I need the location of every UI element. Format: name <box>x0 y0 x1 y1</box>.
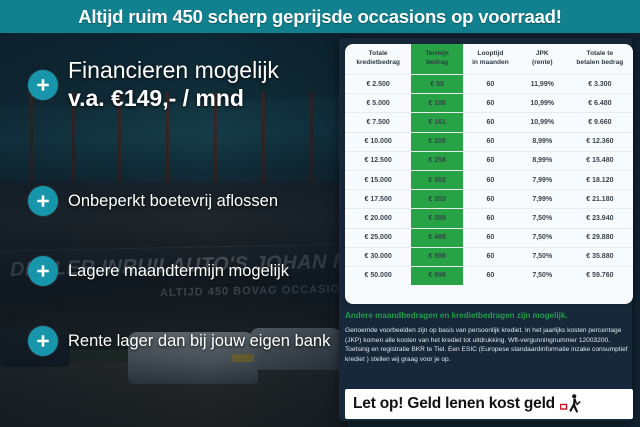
disclaimer-title: Andere maandbedragen en kredietbedragen … <box>345 310 633 321</box>
table-cell: € 15.000 <box>345 170 411 189</box>
top-banner: Altijd ruim 450 scherp geprijsde occasio… <box>0 0 640 33</box>
table-cell: € 399 <box>411 209 463 228</box>
table-cell: 60 <box>463 209 518 228</box>
table-cell: € 598 <box>411 247 463 266</box>
disclaimer-body: Genoemde voorbeelden zijn op basis van p… <box>345 326 633 364</box>
table-row: € 5.000€ 1086010,99%€ 6.480 <box>345 94 633 113</box>
table-cell: 10,99% <box>518 113 567 132</box>
table-cell: € 50.000 <box>345 266 411 285</box>
rates-table-card: Totalekredietbedrag Termijnbedrag Loopti… <box>345 44 633 304</box>
table-cell: € 18.120 <box>567 170 633 189</box>
rates-table-body: € 2.500€ 556011,99%€ 3.300€ 5.000€ 10860… <box>345 75 633 286</box>
table-cell: 60 <box>463 151 518 170</box>
table-cell: € 17.500 <box>345 190 411 209</box>
table-cell: 60 <box>463 228 518 247</box>
plus-icon <box>28 186 58 216</box>
table-cell: 7,50% <box>518 209 567 228</box>
table-cell: € 161 <box>411 113 463 132</box>
feature-item-label: Lagere maandtermijn mogelijk <box>68 262 289 281</box>
feature-item-label: Rente lager dan bij jouw eigen bank <box>68 332 330 351</box>
table-cell: 60 <box>463 132 518 151</box>
feature-item-3: Rente lager dan bij jouw eigen bank <box>28 326 330 356</box>
table-cell: 7,50% <box>518 228 567 247</box>
table-row: € 7.500€ 1616010,99%€ 9.660 <box>345 113 633 132</box>
table-cell: € 2.500 <box>345 75 411 94</box>
credit-warning-text: Let op! Geld lenen kost geld <box>353 395 555 413</box>
top-banner-text: Altijd ruim 450 scherp geprijsde occasio… <box>78 6 562 28</box>
feature-item-2: Lagere maandtermijn mogelijk <box>28 256 289 286</box>
plus-icon <box>28 70 58 100</box>
table-cell: € 29.880 <box>567 228 633 247</box>
feature-list: Financieren mogelijk v.a. €149,- / mnd O… <box>0 33 348 427</box>
table-cell: 11,99% <box>518 75 567 94</box>
feature-item-1: Onbeperkt boetevrij aflossen <box>28 186 278 216</box>
column-header-looptijd: Looptijdin maanden <box>463 44 518 75</box>
table-cell: € 15.480 <box>567 151 633 170</box>
table-cell: 60 <box>463 75 518 94</box>
table-row: € 2.500€ 556011,99%€ 3.300 <box>345 75 633 94</box>
table-cell: € 3.300 <box>567 75 633 94</box>
plus-icon <box>28 326 58 356</box>
table-cell: € 12.500 <box>345 151 411 170</box>
table-row: € 15.000€ 302607,99%€ 18.120 <box>345 170 633 189</box>
plus-icon <box>28 256 58 286</box>
table-cell: € 30.000 <box>345 247 411 266</box>
table-cell: € 5.000 <box>345 94 411 113</box>
advertisement-banner: DEALER INRUILAUTO'S JOHAN MEURE ALTIJD 4… <box>0 0 640 427</box>
column-header-totale-te-betalen: Totale tebetalen bedrag <box>567 44 633 75</box>
table-row: € 30.000€ 598607,50%€ 35.880 <box>345 247 633 266</box>
table-cell: 7,99% <box>518 190 567 209</box>
table-cell: 7,50% <box>518 247 567 266</box>
disclaimer-block: Andere maandbedragen en kredietbedragen … <box>345 310 633 364</box>
feature-item-label: Onbeperkt boetevrij aflossen <box>68 192 278 211</box>
column-header-totale-kredietbedrag: Totalekredietbedrag <box>345 44 411 75</box>
table-row: € 25.000€ 498607,50%€ 29.880 <box>345 228 633 247</box>
table-cell: € 12.360 <box>567 132 633 151</box>
table-cell: € 258 <box>411 151 463 170</box>
table-cell: 60 <box>463 266 518 285</box>
table-cell: 60 <box>463 170 518 189</box>
table-row: € 20.000€ 399607,50%€ 23.940 <box>345 209 633 228</box>
table-cell: € 996 <box>411 266 463 285</box>
table-cell: 8,99% <box>518 151 567 170</box>
feature-headline: Financieren mogelijk v.a. €149,- / mnd <box>28 57 279 112</box>
table-cell: 10,99% <box>518 94 567 113</box>
table-cell: 60 <box>463 94 518 113</box>
table-cell: € 35.880 <box>567 247 633 266</box>
table-cell: € 353 <box>411 190 463 209</box>
headline-line-2: v.a. €149,- / mnd <box>68 85 244 111</box>
column-header-termijn-bedrag: Termijnbedrag <box>411 44 463 75</box>
table-row: € 12.500€ 258608,99%€ 15.480 <box>345 151 633 170</box>
table-cell: 7,99% <box>518 170 567 189</box>
table-cell: € 302 <box>411 170 463 189</box>
credit-warning-bar: Let op! Geld lenen kost geld <box>345 389 633 419</box>
table-row: € 17.500€ 353607,99%€ 21.180 <box>345 190 633 209</box>
table-cell: € 10.000 <box>345 132 411 151</box>
table-cell: € 21.180 <box>567 190 633 209</box>
walking-person-icon <box>560 393 582 415</box>
table-cell: € 108 <box>411 94 463 113</box>
table-cell: 60 <box>463 190 518 209</box>
table-cell: € 498 <box>411 228 463 247</box>
table-cell: € 59.760 <box>567 266 633 285</box>
table-cell: 7,50% <box>518 266 567 285</box>
table-cell: 60 <box>463 113 518 132</box>
table-cell: € 23.940 <box>567 209 633 228</box>
table-cell: 8,99% <box>518 132 567 151</box>
rates-table-head: Totalekredietbedrag Termijnbedrag Loopti… <box>345 44 633 75</box>
table-cell: € 7.500 <box>345 113 411 132</box>
headline-line-1: Financieren mogelijk <box>68 57 279 83</box>
table-row: € 50.000€ 996607,50%€ 59.760 <box>345 266 633 285</box>
table-cell: € 6.480 <box>567 94 633 113</box>
rates-table: Totalekredietbedrag Termijnbedrag Loopti… <box>345 44 633 285</box>
table-cell: € 206 <box>411 132 463 151</box>
table-header-row: Totalekredietbedrag Termijnbedrag Loopti… <box>345 44 633 75</box>
table-row: € 10.000€ 206608,99%€ 12.360 <box>345 132 633 151</box>
table-cell: € 9.660 <box>567 113 633 132</box>
table-cell: € 20.000 <box>345 209 411 228</box>
column-header-jpk: JPK(rente) <box>518 44 567 75</box>
table-cell: € 55 <box>411 75 463 94</box>
table-cell: € 25.000 <box>345 228 411 247</box>
table-cell: 60 <box>463 247 518 266</box>
